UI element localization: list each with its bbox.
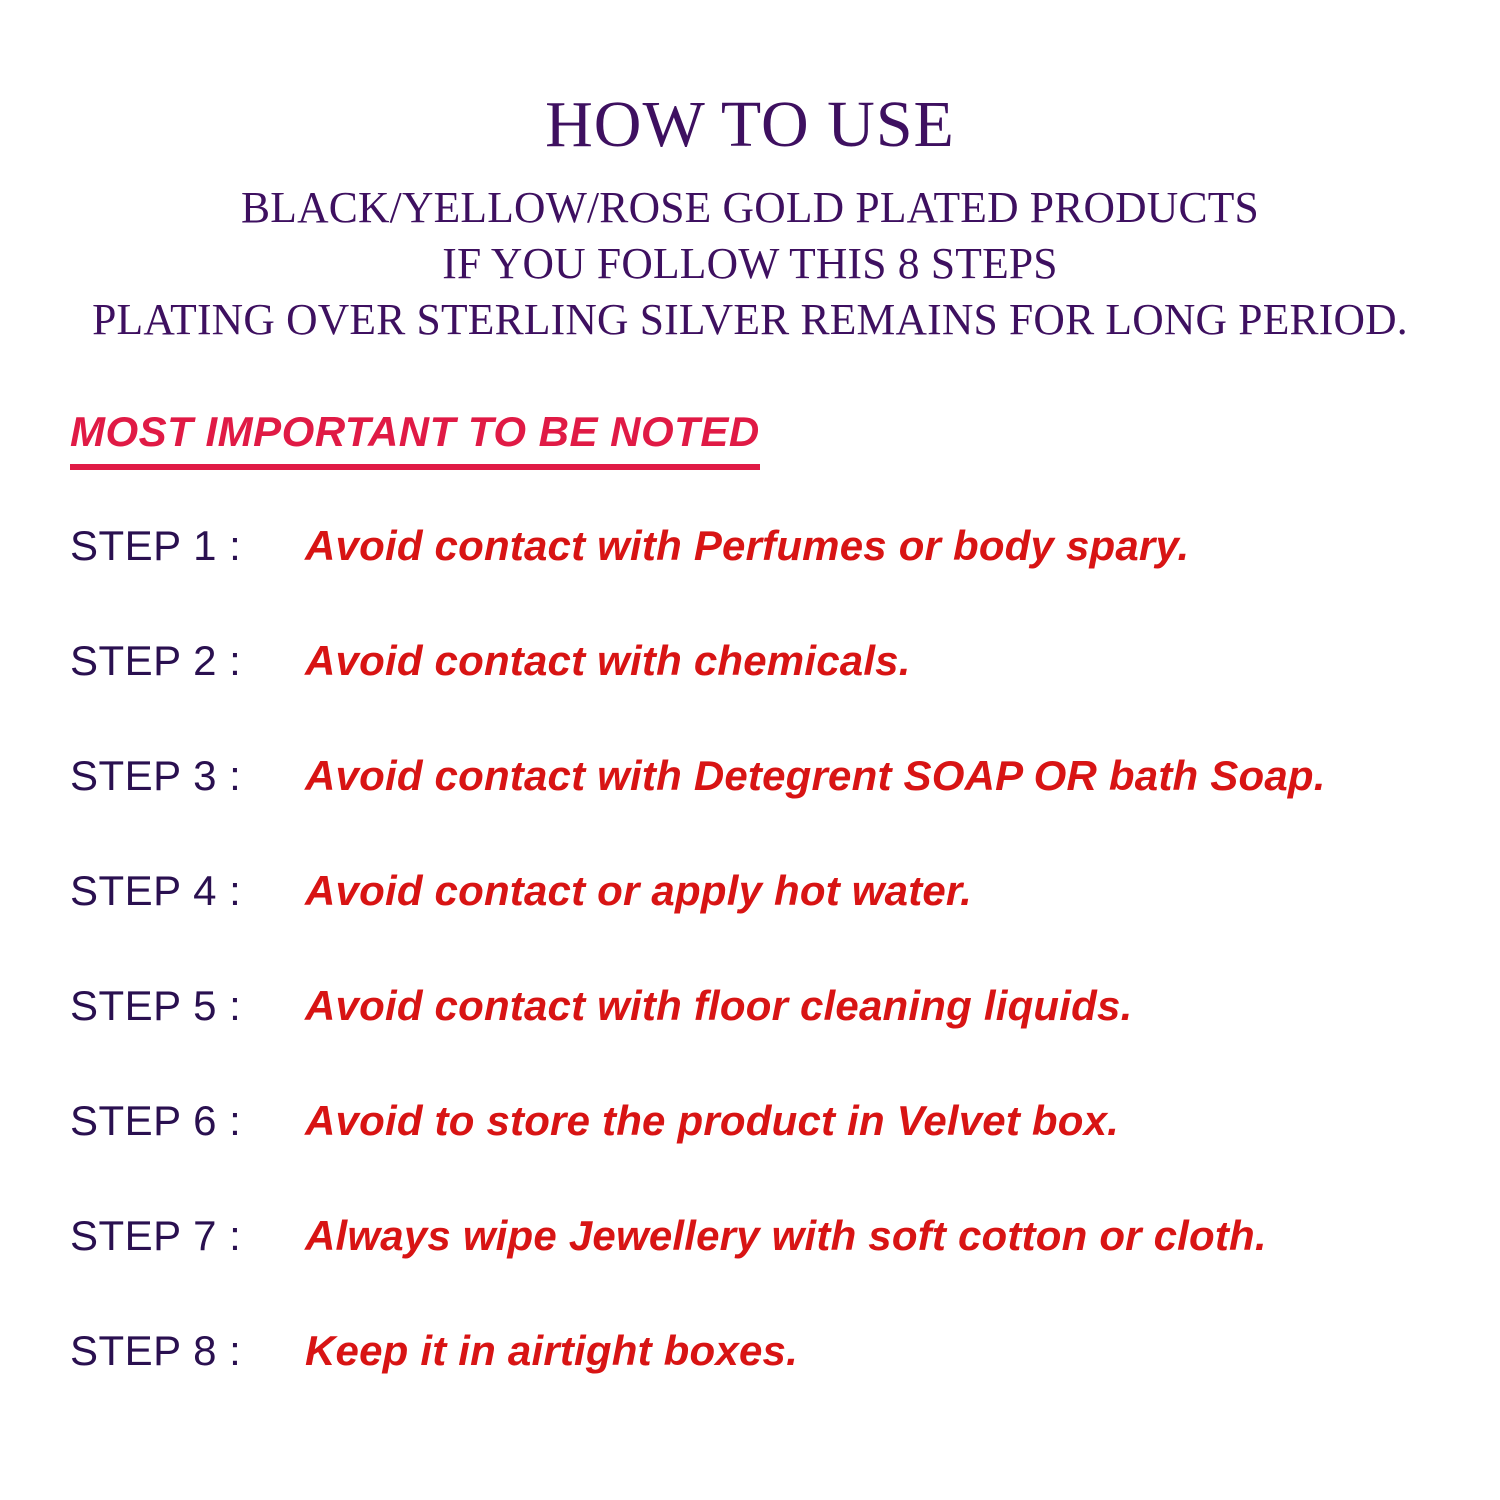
step-row-5: STEP 5 : Avoid contact with floor cleani… (70, 982, 1500, 1097)
subtitle-line-1: BLACK/YELLOW/ROSE GOLD PLATED PRODUCTS (8, 180, 1493, 236)
step-text-8: Keep it in airtight boxes. (305, 1327, 798, 1375)
step-row-3: STEP 3 : Avoid contact with Detegrent SO… (70, 752, 1500, 867)
subtitle-line-3: PLATING OVER STERLING SILVER REMAINS FOR… (8, 292, 1493, 348)
step-text-1: Avoid contact with Perfumes or body spar… (305, 522, 1189, 570)
step-row-2: STEP 2 : Avoid contact with chemicals. (70, 637, 1500, 752)
step-row-1: STEP 1 : Avoid contact with Perfumes or … (70, 522, 1500, 637)
step-text-3: Avoid contact with Detegrent SOAP OR bat… (305, 752, 1326, 800)
step-label-3: STEP 3 : (70, 752, 305, 800)
step-label-1: STEP 1 : (70, 522, 305, 570)
subtitle-block: BLACK/YELLOW/ROSE GOLD PLATED PRODUCTS I… (0, 180, 1500, 348)
step-label-5: STEP 5 : (70, 982, 305, 1030)
page-title: HOW TO USE (0, 92, 1500, 158)
step-label-4: STEP 4 : (70, 867, 305, 915)
step-row-7: STEP 7 : Always wipe Jewellery with soft… (70, 1212, 1500, 1327)
step-row-4: STEP 4 : Avoid contact or apply hot wate… (70, 867, 1500, 982)
care-instructions-page: HOW TO USE BLACK/YELLOW/ROSE GOLD PLATED… (0, 0, 1500, 1500)
step-text-2: Avoid contact with chemicals. (305, 637, 911, 685)
most-important-heading: MOST IMPORTANT TO BE NOTED (70, 410, 760, 470)
step-text-5: Avoid contact with floor cleaning liquid… (305, 982, 1132, 1030)
step-text-4: Avoid contact or apply hot water. (305, 867, 972, 915)
step-label-7: STEP 7 : (70, 1212, 305, 1260)
step-text-6: Avoid to store the product in Velvet box… (305, 1097, 1119, 1145)
step-label-8: STEP 8 : (70, 1327, 305, 1375)
step-row-6: STEP 6 : Avoid to store the product in V… (70, 1097, 1500, 1212)
subtitle-line-2: IF YOU FOLLOW THIS 8 STEPS (8, 236, 1493, 292)
steps-list: STEP 1 : Avoid contact with Perfumes or … (0, 522, 1500, 1442)
header-block: HOW TO USE BLACK/YELLOW/ROSE GOLD PLATED… (0, 0, 1500, 348)
notice-block: MOST IMPORTANT TO BE NOTED (0, 410, 1500, 470)
step-label-6: STEP 6 : (70, 1097, 305, 1145)
step-text-7: Always wipe Jewellery with soft cotton o… (305, 1212, 1267, 1260)
step-row-8: STEP 8 : Keep it in airtight boxes. (70, 1327, 1500, 1442)
step-label-2: STEP 2 : (70, 637, 305, 685)
